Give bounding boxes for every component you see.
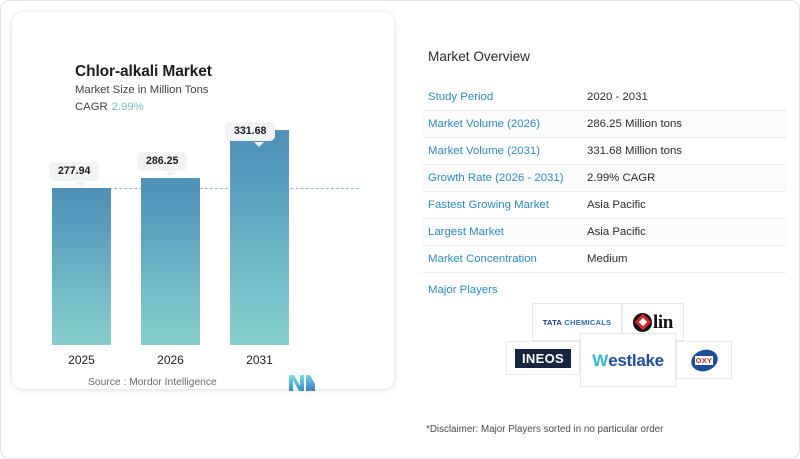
reference-dashed-line [89, 188, 359, 189]
market-snapshot-page: Chlor-alkali Market Market Size in Milli… [0, 0, 800, 459]
row-value: Medium [587, 253, 787, 265]
row-value: 331.68 Million tons [587, 145, 787, 157]
player-logo-ineos: INEOS [506, 341, 580, 375]
bar-label-pointer-2031 [254, 142, 264, 147]
table-row: Growth Rate (2026 - 2031) 2.99% CAGR [422, 165, 787, 192]
table-row: Market Concentration Medium [422, 246, 787, 273]
bar-value-label-2025: 277.94 [49, 162, 99, 181]
row-value: Asia Pacific [587, 199, 787, 211]
page-title: Chlor-alkali Market [75, 63, 212, 81]
overview-title: Market Overview [428, 49, 530, 64]
bar-label-pointer-2025 [76, 182, 86, 187]
row-value: 2.99% CAGR [587, 172, 787, 184]
row-value: Asia Pacific [587, 226, 787, 238]
row-label: Growth Rate (2026 - 2031) [422, 172, 587, 184]
row-value: 286.25 Million tons [587, 118, 787, 130]
cagr-value: 2.99% [112, 101, 144, 113]
bar-2031 [230, 130, 289, 345]
chart-card: Chlor-alkali Market Market Size in Milli… [12, 12, 394, 389]
bar-2026 [141, 178, 200, 345]
x-axis-tick-2031: 2031 [230, 353, 289, 367]
bar-value-label-2031: 331.68 [225, 122, 275, 141]
oxy-wordmark: OXY [695, 356, 714, 365]
row-label: Market Volume (2026) [422, 118, 587, 130]
x-axis-tick-2026: 2026 [141, 353, 200, 367]
bar-chart-plot: 277.94 286.25 331.68 2025 2026 2031 [23, 130, 383, 345]
bar-label-pointer-2026 [165, 172, 175, 177]
westlake-wordmark: estlake [608, 352, 664, 369]
table-row: Largest Market Asia Pacific [422, 219, 787, 246]
chart-subtitle: Market Size in Million Tons [75, 84, 209, 96]
player-logo-oxy: OXY [676, 341, 732, 379]
table-row: Study Period 2020 - 2031 [422, 84, 787, 111]
table-row: Market Volume (2031) 331.68 Million tons [422, 138, 787, 165]
major-players-label: Major Players [428, 284, 498, 296]
table-row: Fastest Growing Market Asia Pacific [422, 192, 787, 219]
westlake-w-mark: W [592, 352, 608, 369]
player-logo-westlake: W estlake [580, 333, 676, 387]
major-players-logo-grid: TATA CHEMICALS lin INEOS W estlake [506, 303, 736, 387]
mordor-intelligence-logo [289, 375, 315, 391]
row-label: Study Period [422, 91, 587, 103]
source-attribution: Source : Mordor Intelligence [88, 377, 217, 388]
row-label: Largest Market [422, 226, 587, 238]
bar-2025 [52, 188, 111, 345]
bar-value-label-2026: 286.25 [137, 152, 187, 171]
cagr-label: CAGR [75, 101, 108, 113]
cagr-row: CAGR2.99% [75, 101, 144, 113]
ineos-wordmark: INEOS [522, 352, 564, 365]
olin-diamond-icon [633, 313, 652, 332]
row-label: Market Concentration [422, 253, 587, 265]
table-row: Market Volume (2026) 286.25 Million tons [422, 111, 787, 138]
olin-wordmark: lin [653, 313, 673, 332]
oxy-ellipse-icon: OXY [691, 350, 718, 371]
x-axis-tick-2025: 2025 [52, 353, 111, 367]
row-value: 2020 - 2031 [587, 91, 787, 103]
disclaimer-text: *Disclaimer: Major Players sorted in no … [426, 424, 663, 435]
row-label: Fastest Growing Market [422, 199, 587, 211]
market-overview-table: Study Period 2020 - 2031 Market Volume (… [422, 84, 787, 273]
row-label: Market Volume (2031) [422, 145, 587, 157]
tata-word: TATA [543, 318, 562, 327]
chemicals-word: CHEMICALS [564, 318, 611, 327]
